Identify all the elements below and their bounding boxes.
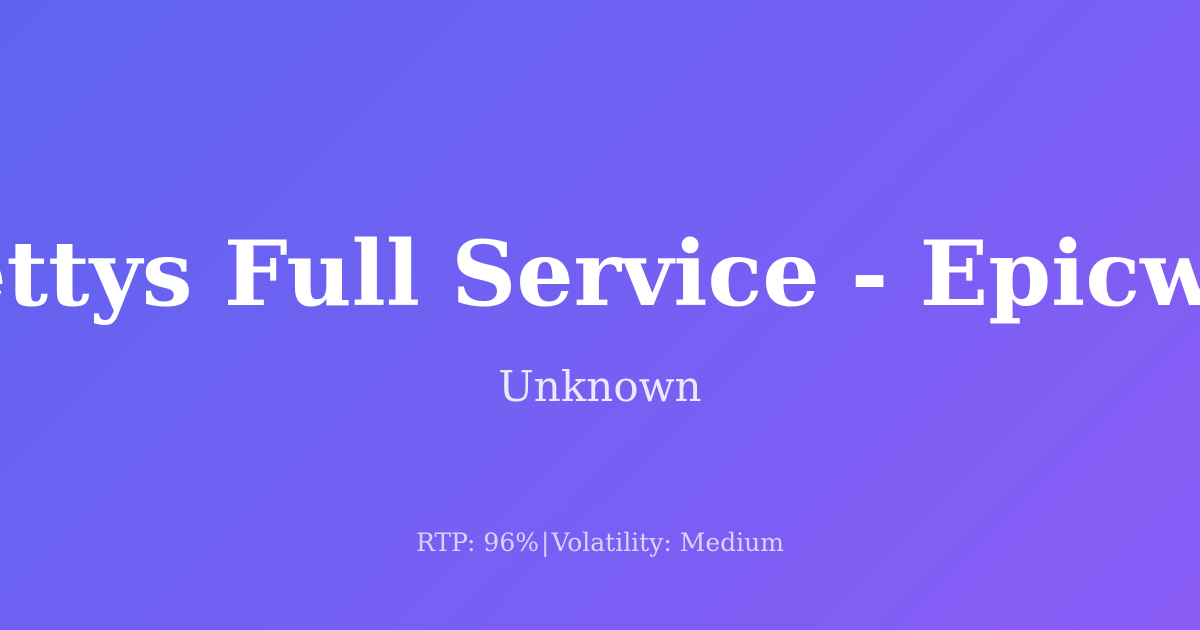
volatility-value: Volatility: Medium [551, 528, 783, 557]
game-title-text: Bettys Full Service - Epicways [0, 221, 1200, 327]
meta-separator: | [539, 528, 551, 557]
page-title: F0Bettys Full Service - Epicways [0, 227, 1200, 322]
game-meta: RTP: 96%|Volatility: Medium [0, 527, 1200, 560]
game-share-card: F0Bettys Full Service - Epicways Unknown… [0, 0, 1200, 630]
provider-name: Unknown [0, 360, 1200, 415]
rtp-value: RTP: 96% [416, 528, 539, 557]
